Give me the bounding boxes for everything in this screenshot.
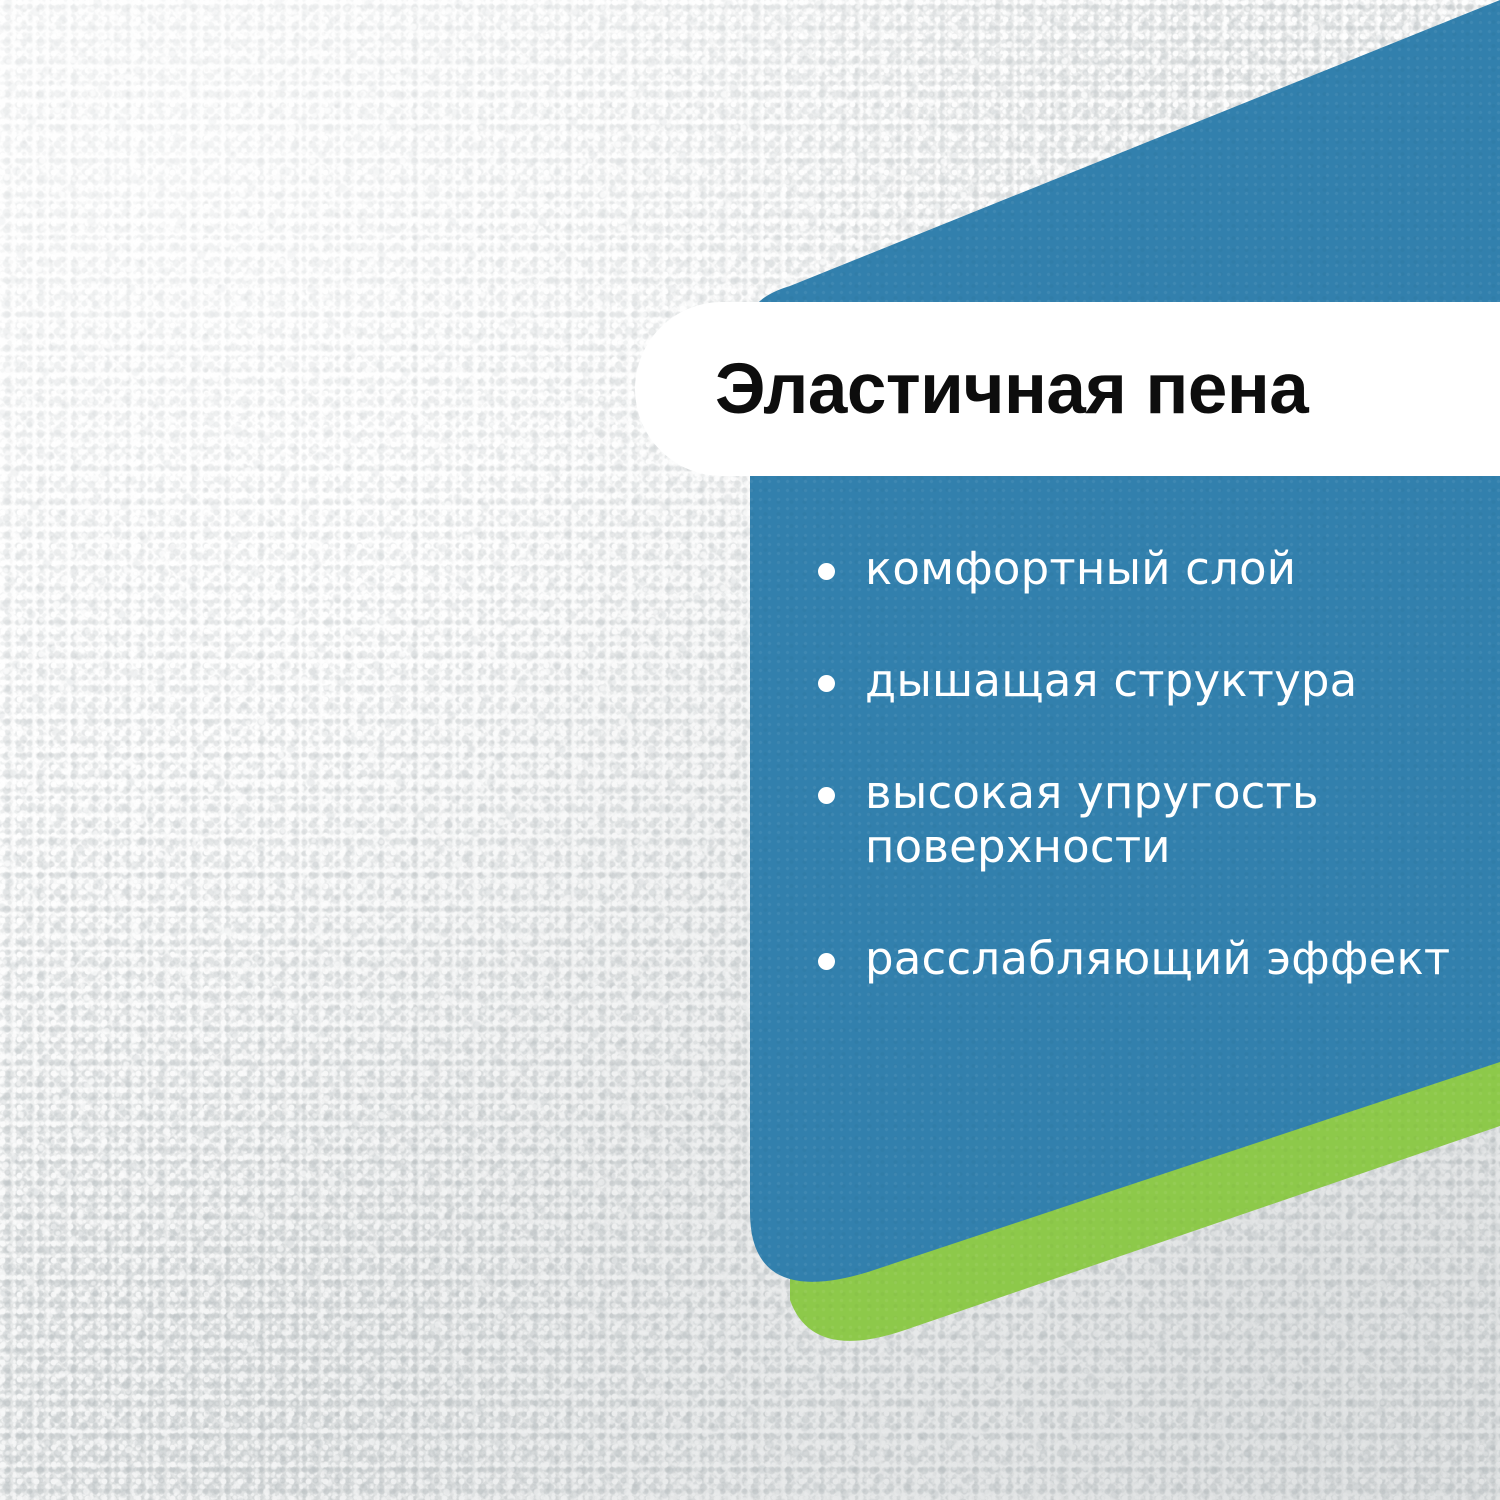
feature-label: высокая упругость поверхности [865,766,1490,874]
list-item: высокая упругость поверхности [818,766,1490,874]
feature-label: комфортный слой [865,542,1490,596]
title-pill: Эластичная пена [635,302,1500,476]
list-item: комфортный слой [818,542,1490,596]
page-title: Эластичная пена [715,354,1308,425]
product-poster: Эластичная пена комфортный слой дышащая … [0,0,1500,1500]
list-item: дышащая структура [818,654,1490,708]
bullet-dot-icon [818,563,835,580]
feature-label: расслабляющий эффект [865,932,1490,986]
list-item: расслабляющий эффект [818,932,1490,986]
bullet-dot-icon [818,953,835,970]
bullet-dot-icon [818,675,835,692]
feature-list: комфортный слой дышащая структура высока… [818,542,1490,986]
feature-label: дышащая структура [865,654,1490,708]
bullet-dot-icon [818,787,835,804]
